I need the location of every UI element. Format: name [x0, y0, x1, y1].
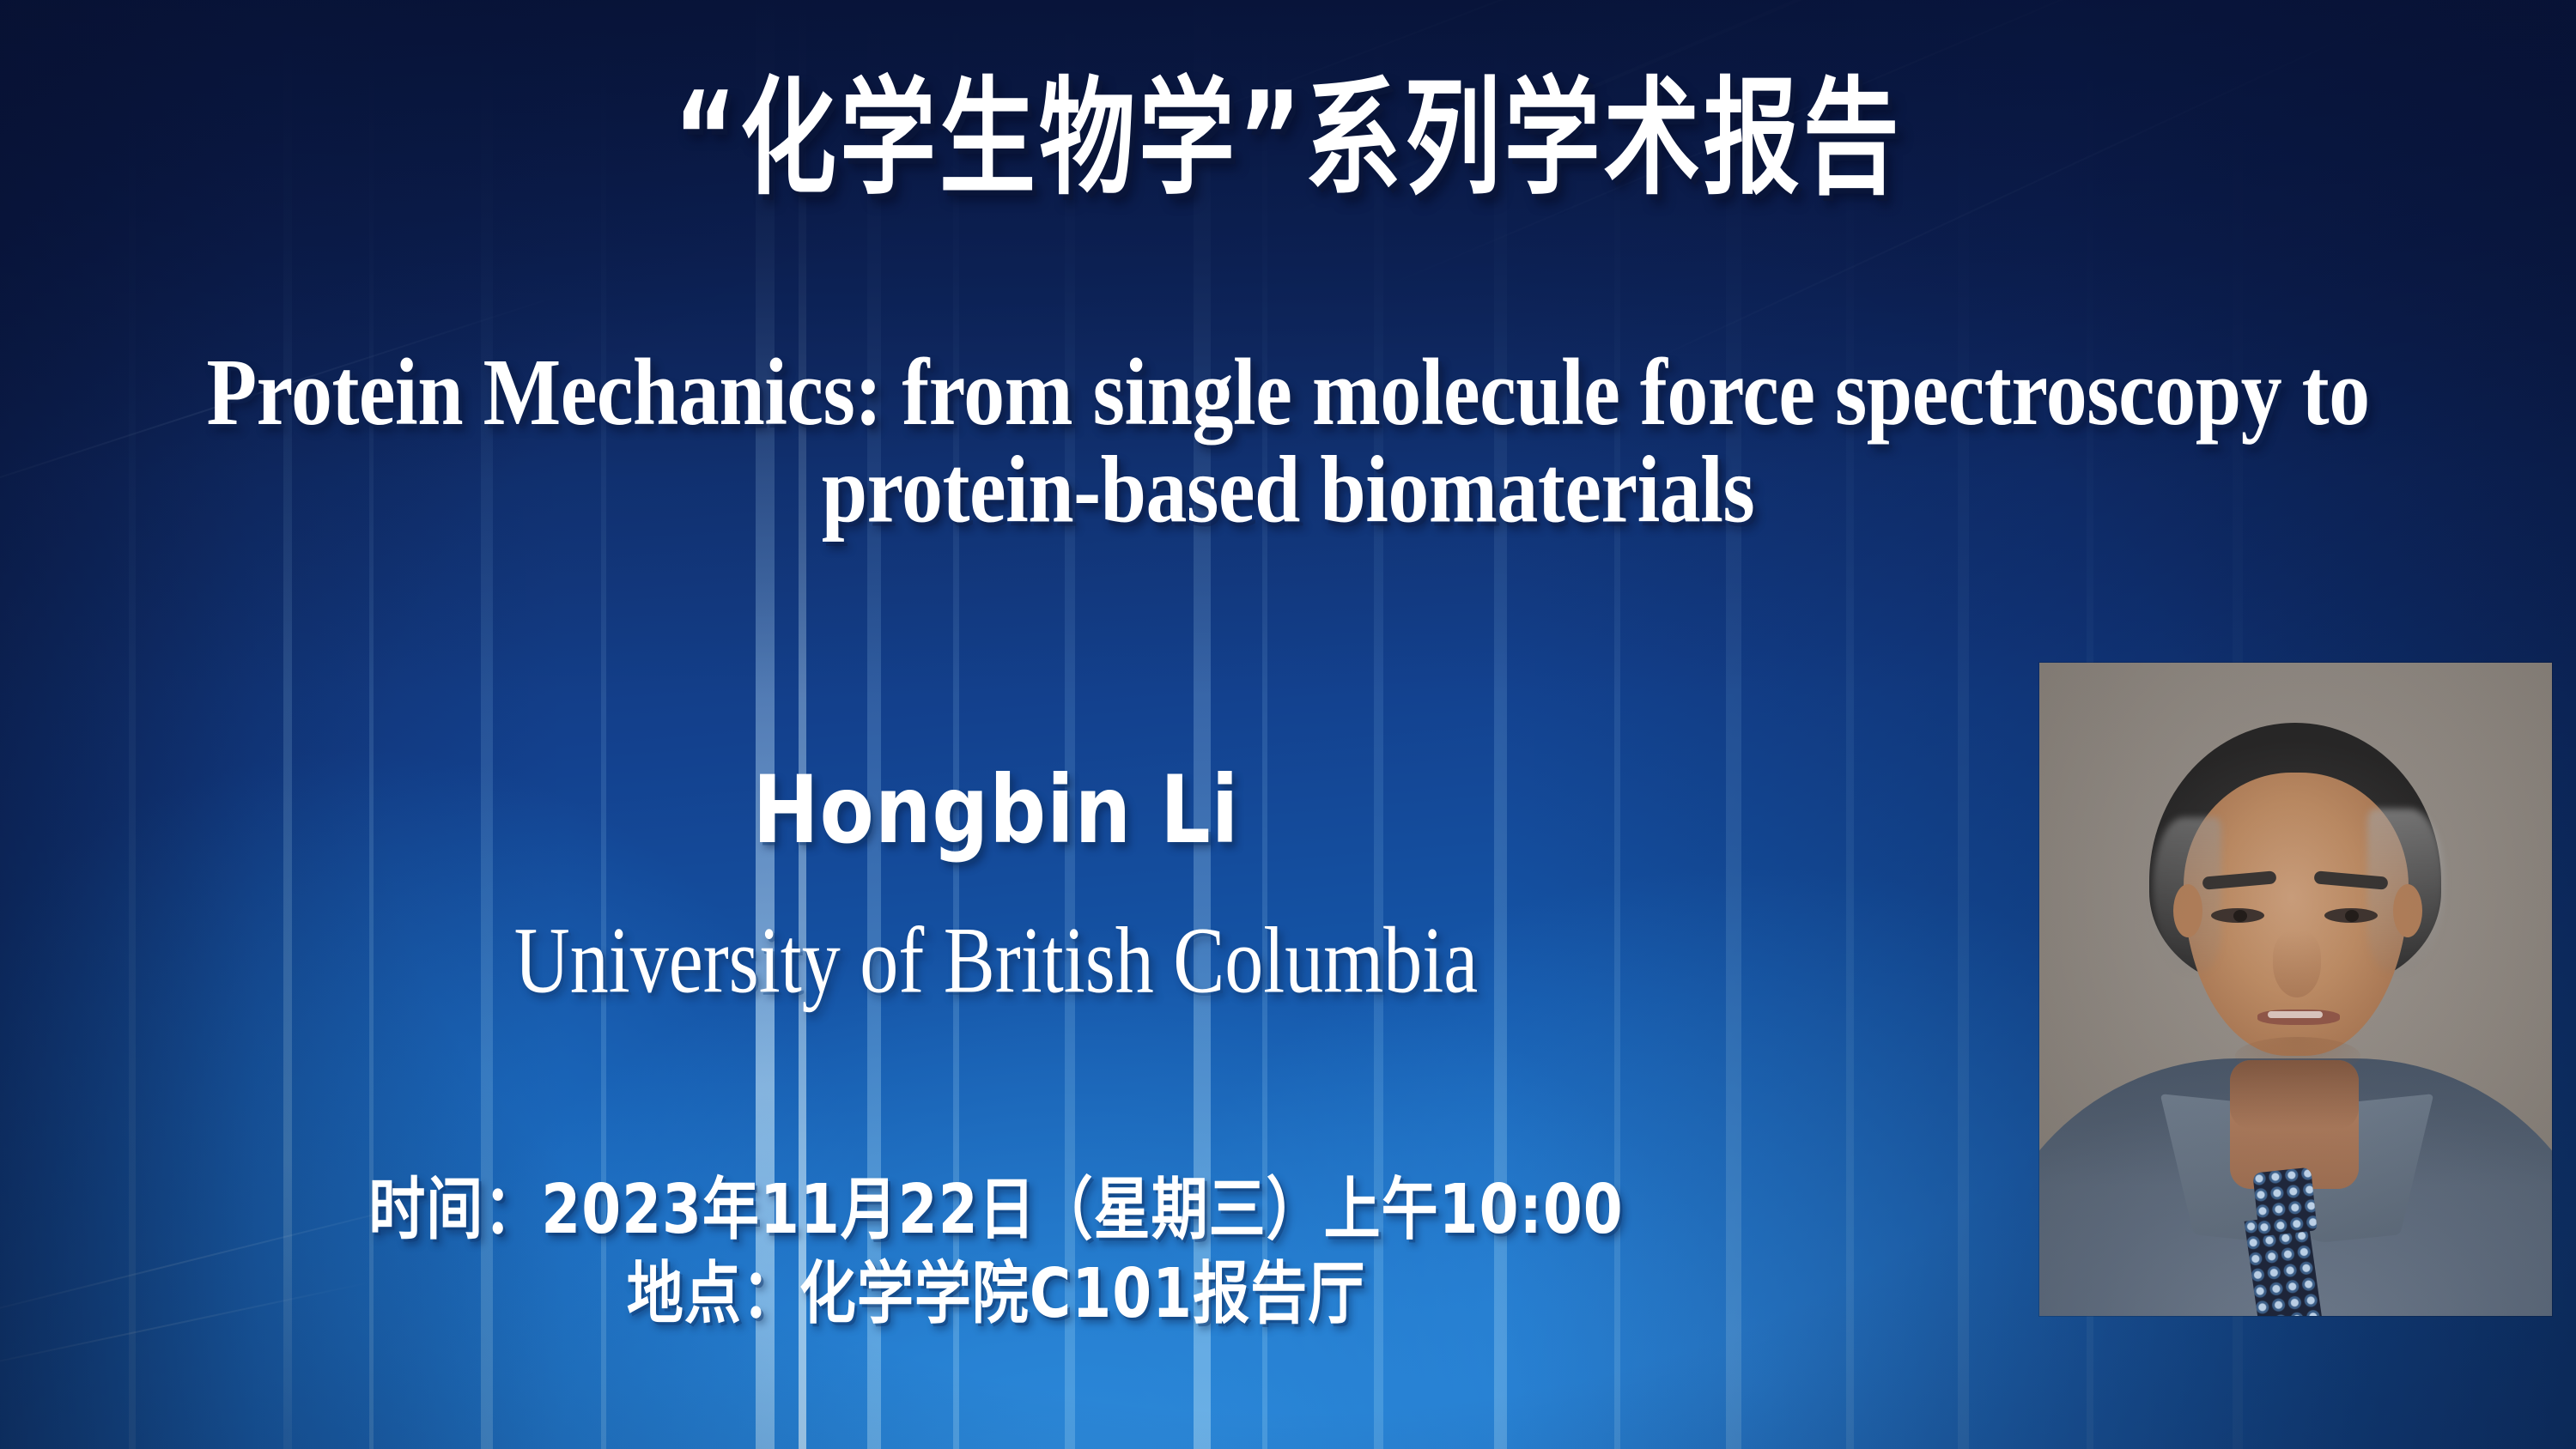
series-title: “化学生物学”系列学术报告: [0, 76, 2576, 203]
seminar-poster: “化学生物学”系列学术报告 Protein Mechanics: from si…: [0, 0, 2576, 1449]
event-time: 时间：2023年11月22日（星期三）上午10:00: [0, 1176, 1992, 1244]
speaker-photo: [2039, 663, 2552, 1316]
event-venue: 地点：化学学院C101报告厅: [0, 1260, 1992, 1328]
talk-title: Protein Mechanics: from single molecule …: [0, 343, 2576, 538]
speaker-affiliation: University of British Columbia: [0, 914, 1992, 1009]
photo-softness-overlay: [2039, 663, 2552, 1316]
speaker-name: Hongbin Li: [0, 764, 1992, 858]
